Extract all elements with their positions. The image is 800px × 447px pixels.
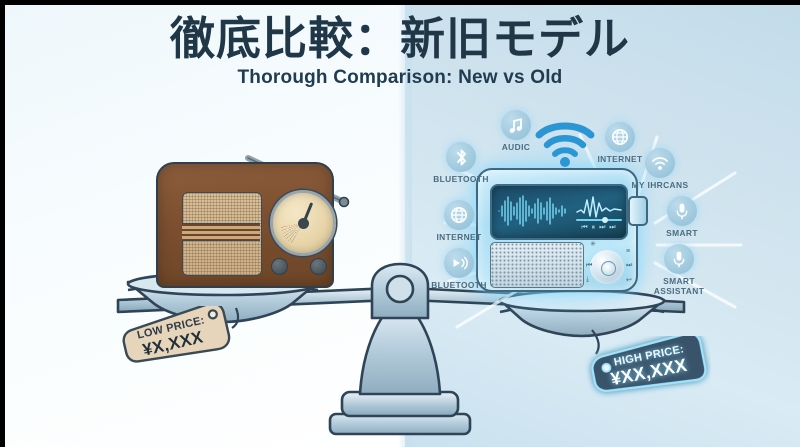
menu-button-icon[interactable]: ≡: [626, 248, 630, 255]
wifi-small-icon: [645, 148, 675, 178]
music-note-icon: [501, 110, 531, 140]
microphone-icon: [664, 244, 694, 274]
slide-canvas: 徹底比較：新旧モデル Thorough Comparison: New vs O…: [0, 0, 800, 447]
device-shell: ⏮ ⏸ ⏭ ⏭ ✳ ⏮ ⤓ ⏭ ≡ ↩: [476, 168, 638, 292]
dial-ticks: [280, 200, 326, 246]
bluetooth-icon: [446, 142, 476, 172]
frame-bar-top: [0, 0, 800, 5]
mic-button-icon[interactable]: ✳: [590, 240, 596, 248]
page-subtitle-english: Thorough Comparison: New vs Old: [0, 67, 800, 89]
speaker-mesh-icon: [490, 242, 584, 288]
feature-smart[interactable]: SMART: [643, 196, 721, 239]
price-tag-old: LOW PRICE: ¥X,XXX: [118, 306, 236, 368]
audio-waveform-icon: [496, 194, 570, 228]
page-title-japanese: 徹底比較：新旧モデル: [0, 12, 800, 65]
feature-label: SMART ASSISTANT: [640, 277, 718, 296]
tuning-dial[interactable]: [270, 190, 336, 256]
feature-label: SMART: [643, 229, 721, 239]
globe-icon: [444, 200, 474, 230]
grille-bars: [182, 223, 260, 241]
microphone-icon: [667, 196, 697, 226]
device-screen[interactable]: ⏮ ⏸ ⏭ ⏭: [490, 184, 628, 240]
feature-label: MY IHRCANS: [621, 181, 699, 191]
price-tag-new: HIGH PRICE: ¥XX,XXX: [583, 336, 711, 398]
progress-slider[interactable]: [576, 219, 622, 221]
feature-label: BLUETOOTH: [420, 281, 498, 291]
frame-bar-left: [0, 0, 5, 447]
title-block: 徹底比較：新旧モデル Thorough Comparison: New vs O…: [0, 12, 800, 89]
tuner-knob[interactable]: [310, 258, 327, 275]
volume-knob[interactable]: [271, 258, 288, 275]
next-button-icon[interactable]: ⏭: [626, 262, 632, 270]
radio-cabinet: [156, 162, 334, 288]
feature-audio[interactable]: AUDIC: [477, 110, 555, 153]
playback-controls[interactable]: ⏮ ⏸ ⏭ ⏭: [576, 224, 622, 233]
cast-audio-icon: [444, 248, 474, 278]
vintage-radio: [148, 152, 338, 284]
download-button-icon[interactable]: ⤓: [586, 276, 589, 284]
feature-internet-1[interactable]: INTERNET: [420, 200, 498, 243]
feature-smart-assistant[interactable]: SMART ASSISTANT: [640, 244, 718, 296]
feature-label: AUDIC: [477, 143, 555, 153]
feature-bluetooth-2[interactable]: BLUETOOTH: [420, 248, 498, 291]
pulse-waveform-icon: [576, 194, 622, 220]
back-button-icon[interactable]: ↩: [626, 276, 632, 284]
previous-button-icon[interactable]: ⏮: [586, 262, 592, 270]
feature-label: INTERNET: [420, 233, 498, 243]
feature-my-ihrcans[interactable]: MY IHRCANS: [621, 148, 699, 191]
control-dial[interactable]: [590, 250, 624, 284]
feature-label: BLUETOOTH: [422, 175, 500, 185]
